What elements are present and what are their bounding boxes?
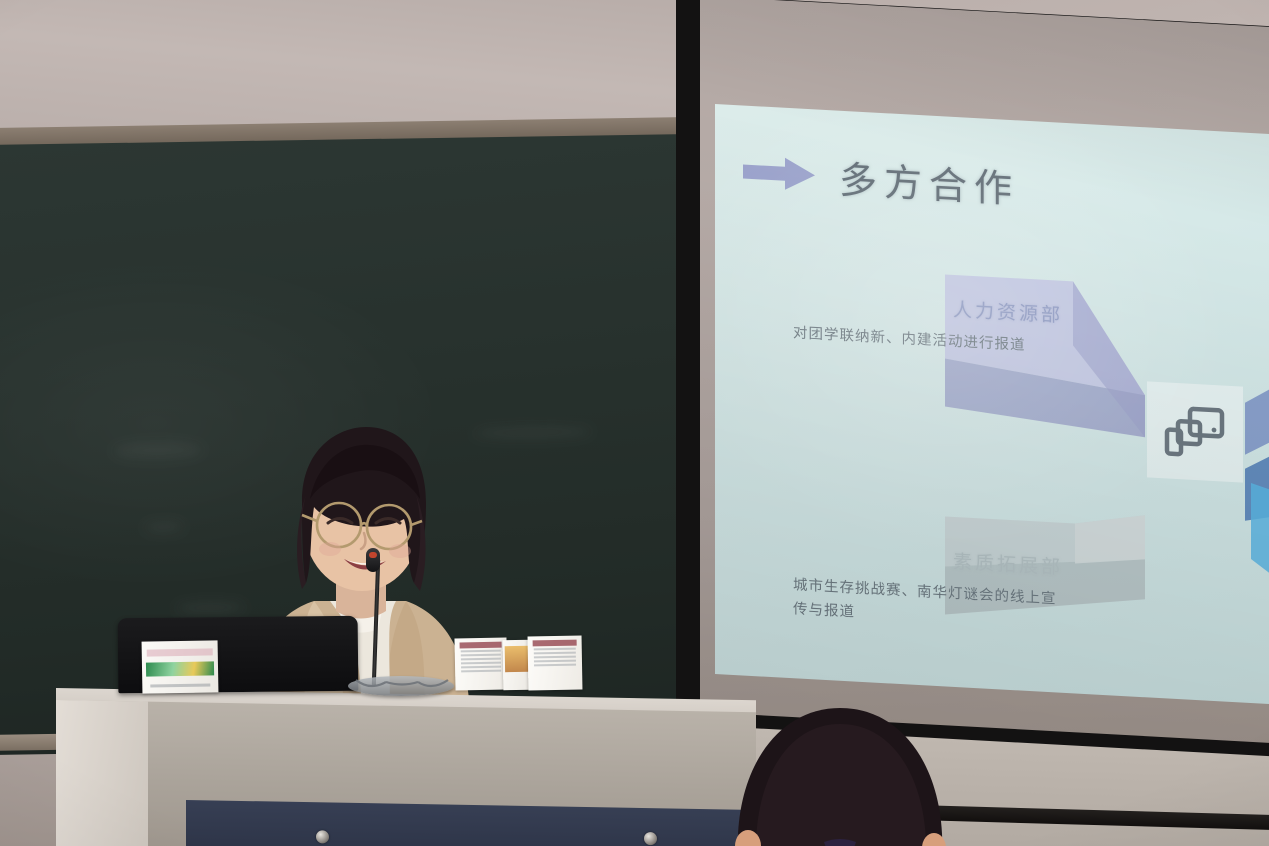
slide-section-hr-body: 对团学联纳新、内建活动进行报道: [793, 322, 1063, 361]
microphone-indicator-light: [369, 552, 377, 558]
slide-title: 多方合作: [839, 149, 1019, 214]
podium-side: [56, 700, 148, 846]
info-card-left[interactable]: [454, 637, 507, 690]
slide-section-quality-body: 城市生存挑战赛、南华灯谜会的线上宣传与报道: [793, 574, 1063, 636]
slide-section-quality: 素质拓展部 城市生存挑战赛、南华灯谜会的线上宣传与报道: [793, 538, 1063, 636]
podium-lock-right[interactable]: [644, 832, 657, 845]
audience-member: [728, 686, 952, 846]
podium-lock-left[interactable]: [316, 830, 329, 843]
devices-icon: [1164, 403, 1226, 460]
classroom-presentation-photo: 多方合作 人力资源部 对团学联纳新、内建活动进行报道 素质拓展部 城市生存挑战赛…: [0, 0, 1269, 846]
devices-icon-plate: [1147, 381, 1243, 482]
product-box-left[interactable]: [142, 640, 219, 693]
right-arrow-icon: [743, 154, 815, 192]
info-card-right[interactable]: [528, 636, 583, 691]
slide-title-row: 多方合作: [743, 144, 1019, 214]
projected-slide: 多方合作 人力资源部 对团学联纳新、内建活动进行报道 素质拓展部 城市生存挑战赛…: [715, 104, 1269, 704]
eyeglasses-on-desk[interactable]: [352, 672, 452, 692]
